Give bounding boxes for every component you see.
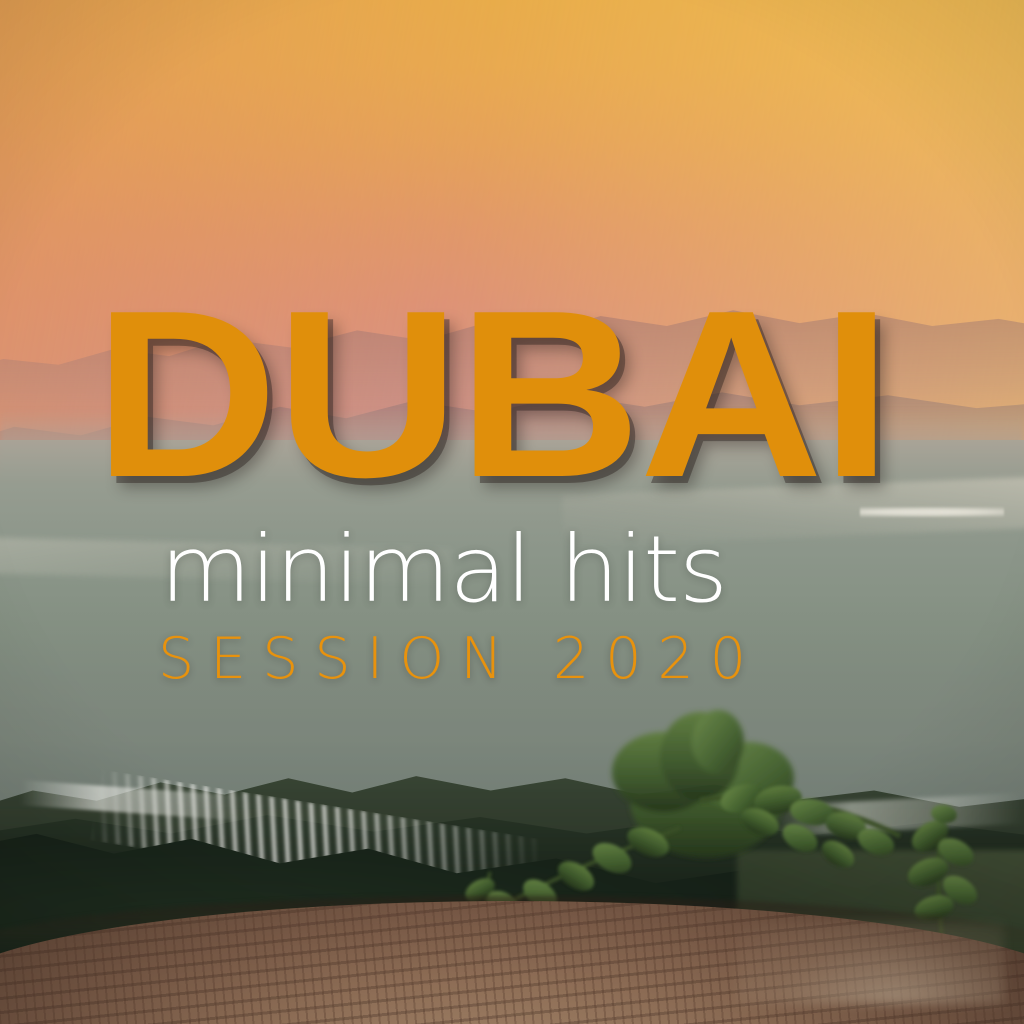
background-photo [0,0,1024,1024]
vignette-grade [0,0,1024,1024]
album-cover: DUBAI minimal hits SESSION 2020 [0,0,1024,1024]
